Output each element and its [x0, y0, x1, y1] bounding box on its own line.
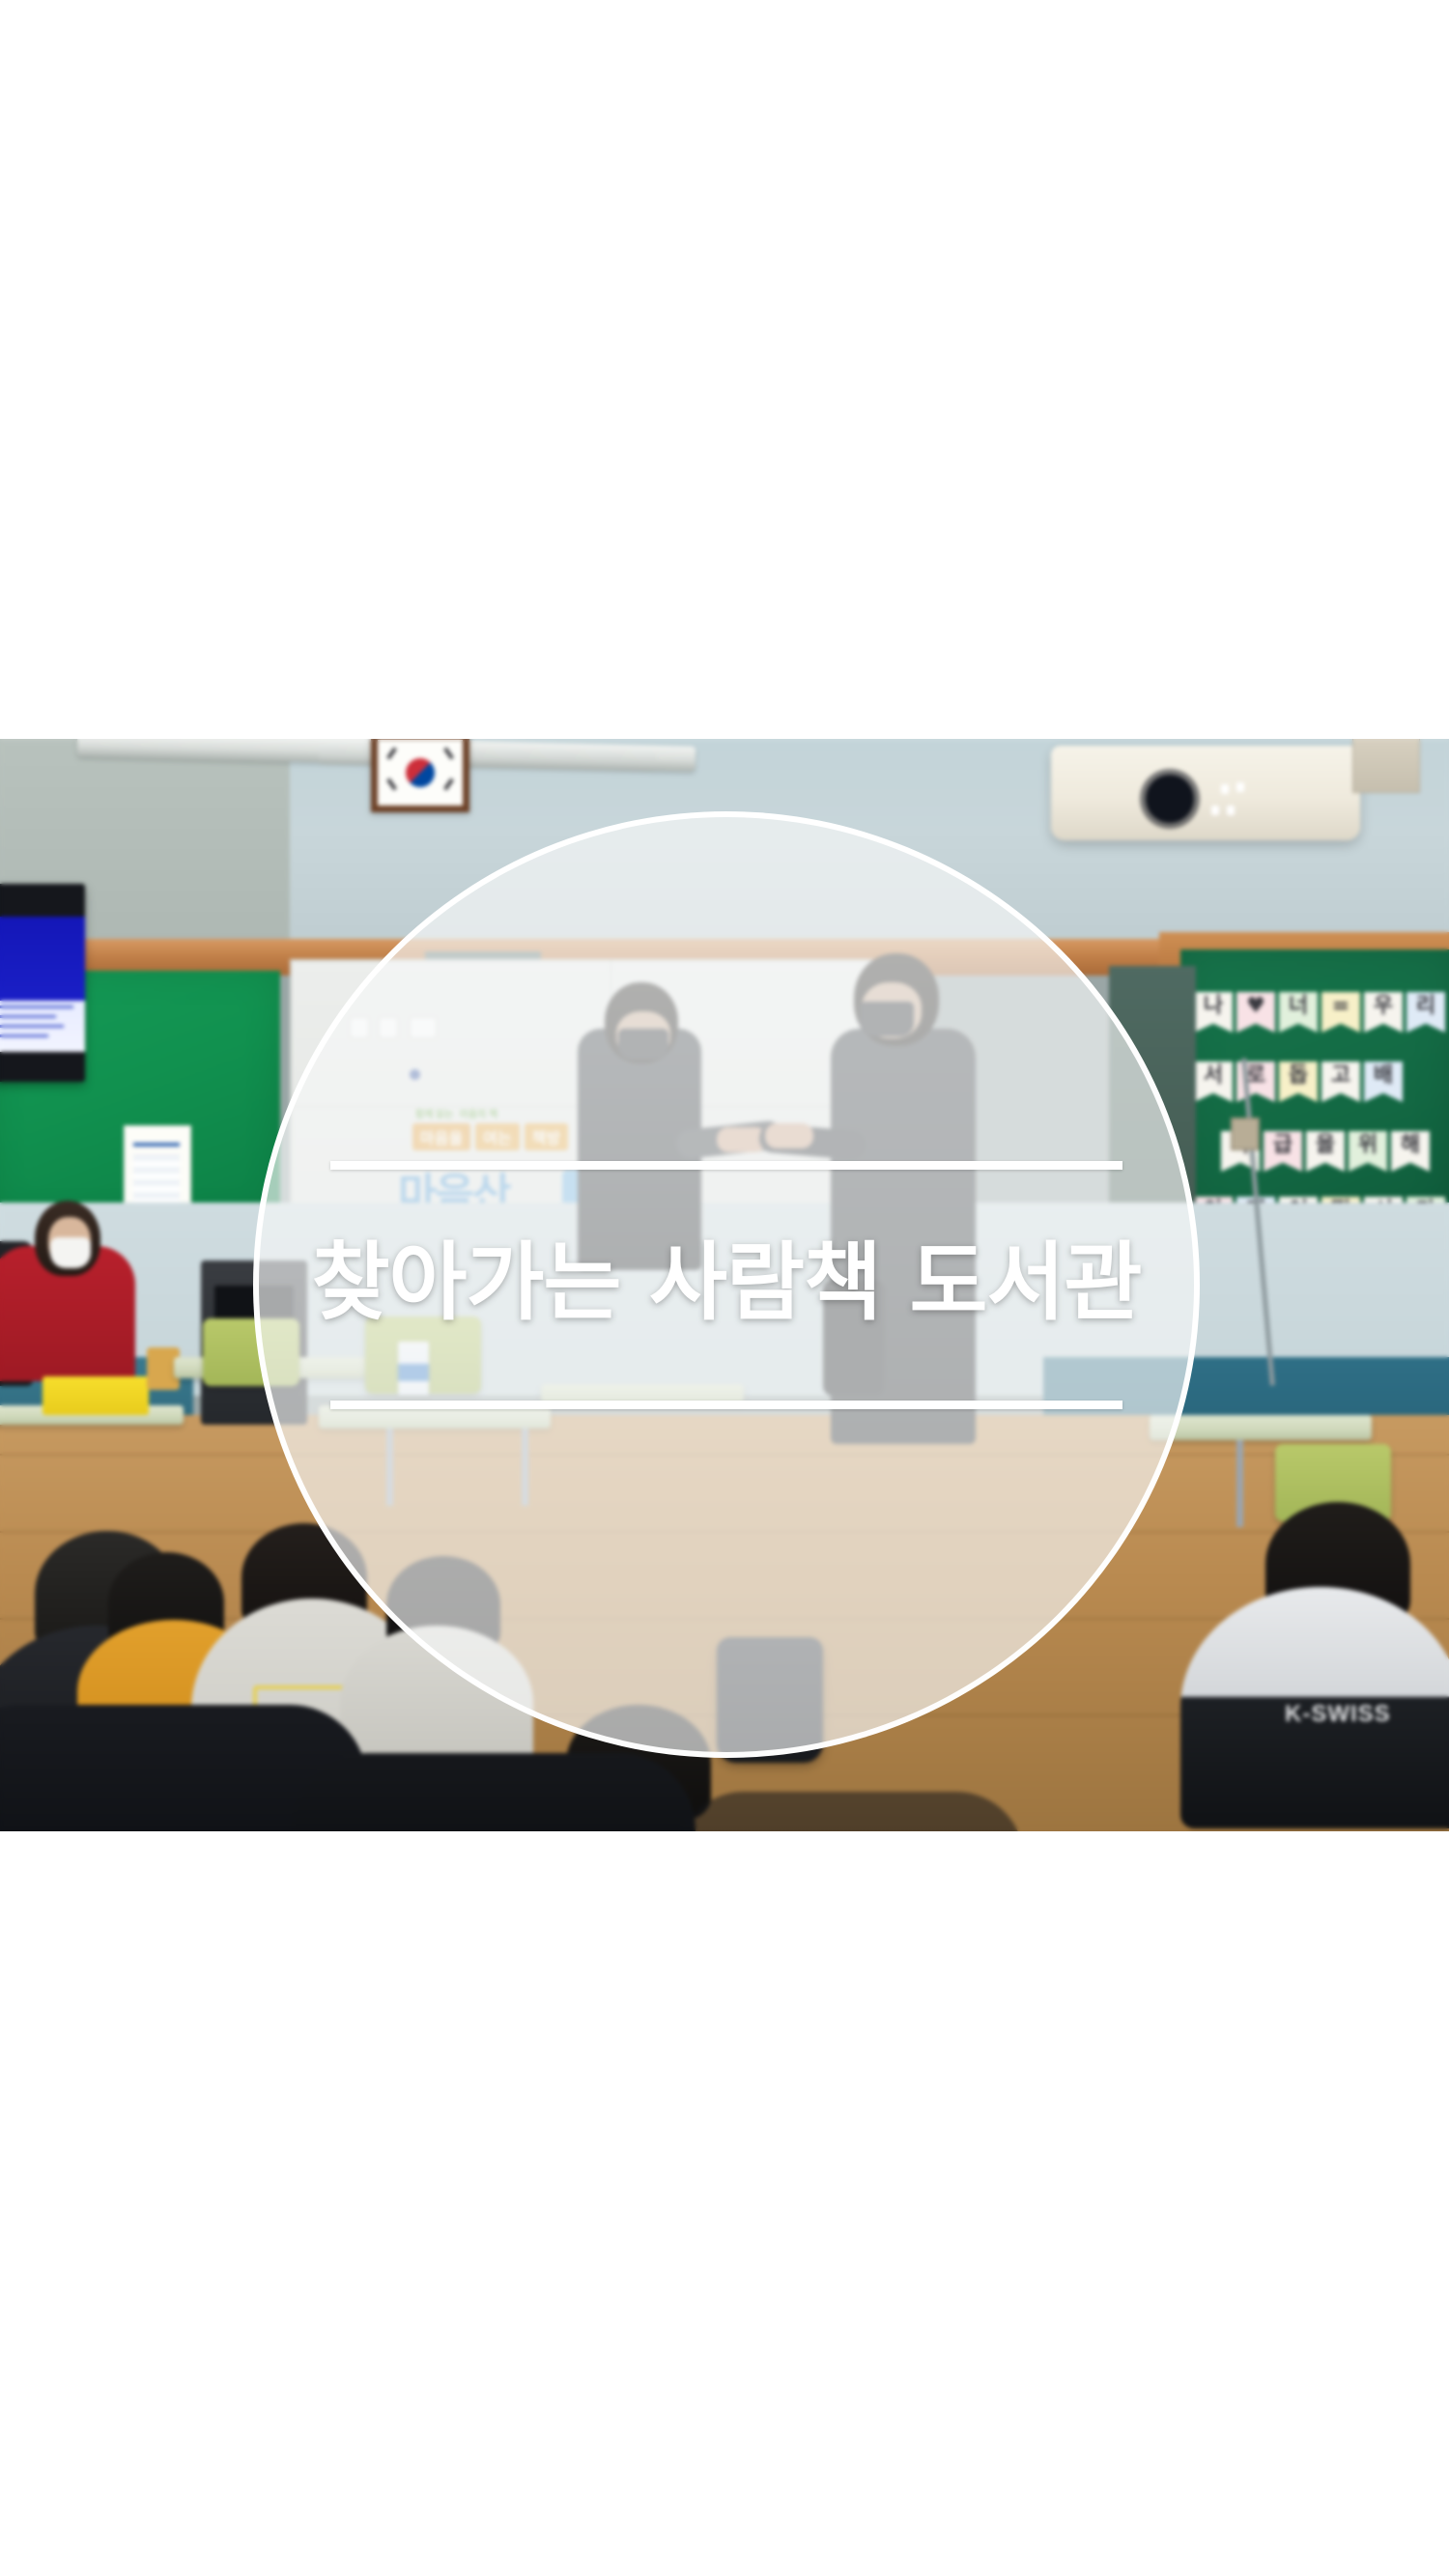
banner-flag: = [1321, 992, 1360, 1033]
korean-flag-frame-icon [371, 739, 469, 812]
banner-flag: 해 [1391, 1131, 1430, 1172]
banner-flag: 고 [1321, 1062, 1360, 1102]
banner-flag: 우 [1364, 992, 1403, 1033]
foreground-student-silhouette [290, 1753, 696, 1831]
yellow-tray [43, 1376, 149, 1415]
title-overlay-block: 찾아가는 사람책 도서관 [253, 811, 1200, 1758]
aircon-led-4 [1227, 806, 1235, 815]
banner-flag: 위 [1349, 1131, 1387, 1172]
jacket-brand-label: K-SWISS [1285, 1701, 1401, 1726]
taeguk-circle-icon [406, 758, 435, 787]
banner-flag: 서 [1194, 1062, 1233, 1102]
banner-flag: 돕 [1279, 1062, 1318, 1102]
flag-trigram-4 [443, 778, 454, 791]
divider-line-bottom [330, 1401, 1122, 1409]
banner-row-1: 나 ♥ 너 = 우 리 [1194, 992, 1445, 1033]
banner-flag: 을 [1306, 1131, 1345, 1172]
banner-flag: 너 [1279, 992, 1318, 1033]
notice-grid [133, 1154, 180, 1204]
banner-flag: ♥ [1236, 992, 1275, 1033]
banner-flag: 급 [1264, 1131, 1302, 1172]
notice-line-1 [133, 1143, 180, 1146]
banner-flag: 리 [1406, 992, 1445, 1033]
aircon-led-1 [1221, 784, 1229, 794]
green-bulletin-board-right: 나 ♥ 너 = 우 리 서 로 돕 고 배 학 급 을 위 해 [1180, 949, 1449, 1239]
flag-trigram-1 [386, 748, 397, 760]
flag-trigram-3 [443, 748, 454, 760]
page-canvas: 나 ♥ 너 = 우 리 서 로 돕 고 배 학 급 을 위 해 [0, 0, 1449, 2576]
page-title: 찾아가는 사람책 도서관 [312, 1240, 1142, 1325]
foreground-student-silhouette [676, 1792, 1024, 1831]
monitor-screen [0, 917, 85, 1052]
divider-line-top [330, 1161, 1122, 1170]
flag-trigram-2 [386, 778, 397, 791]
wall-monitor [0, 884, 85, 1082]
banner-flag: 나 [1194, 992, 1233, 1033]
teacher-face-mask-icon [50, 1237, 91, 1268]
aircon-led-3 [1211, 806, 1219, 815]
aircon-led-2 [1236, 782, 1244, 792]
banner-flag: 배 [1364, 1062, 1403, 1102]
wall-control-panel [1352, 739, 1420, 793]
banner-row-2: 서 로 돕 고 배 [1194, 1062, 1403, 1102]
wall-socket-icon [1231, 1118, 1260, 1150]
